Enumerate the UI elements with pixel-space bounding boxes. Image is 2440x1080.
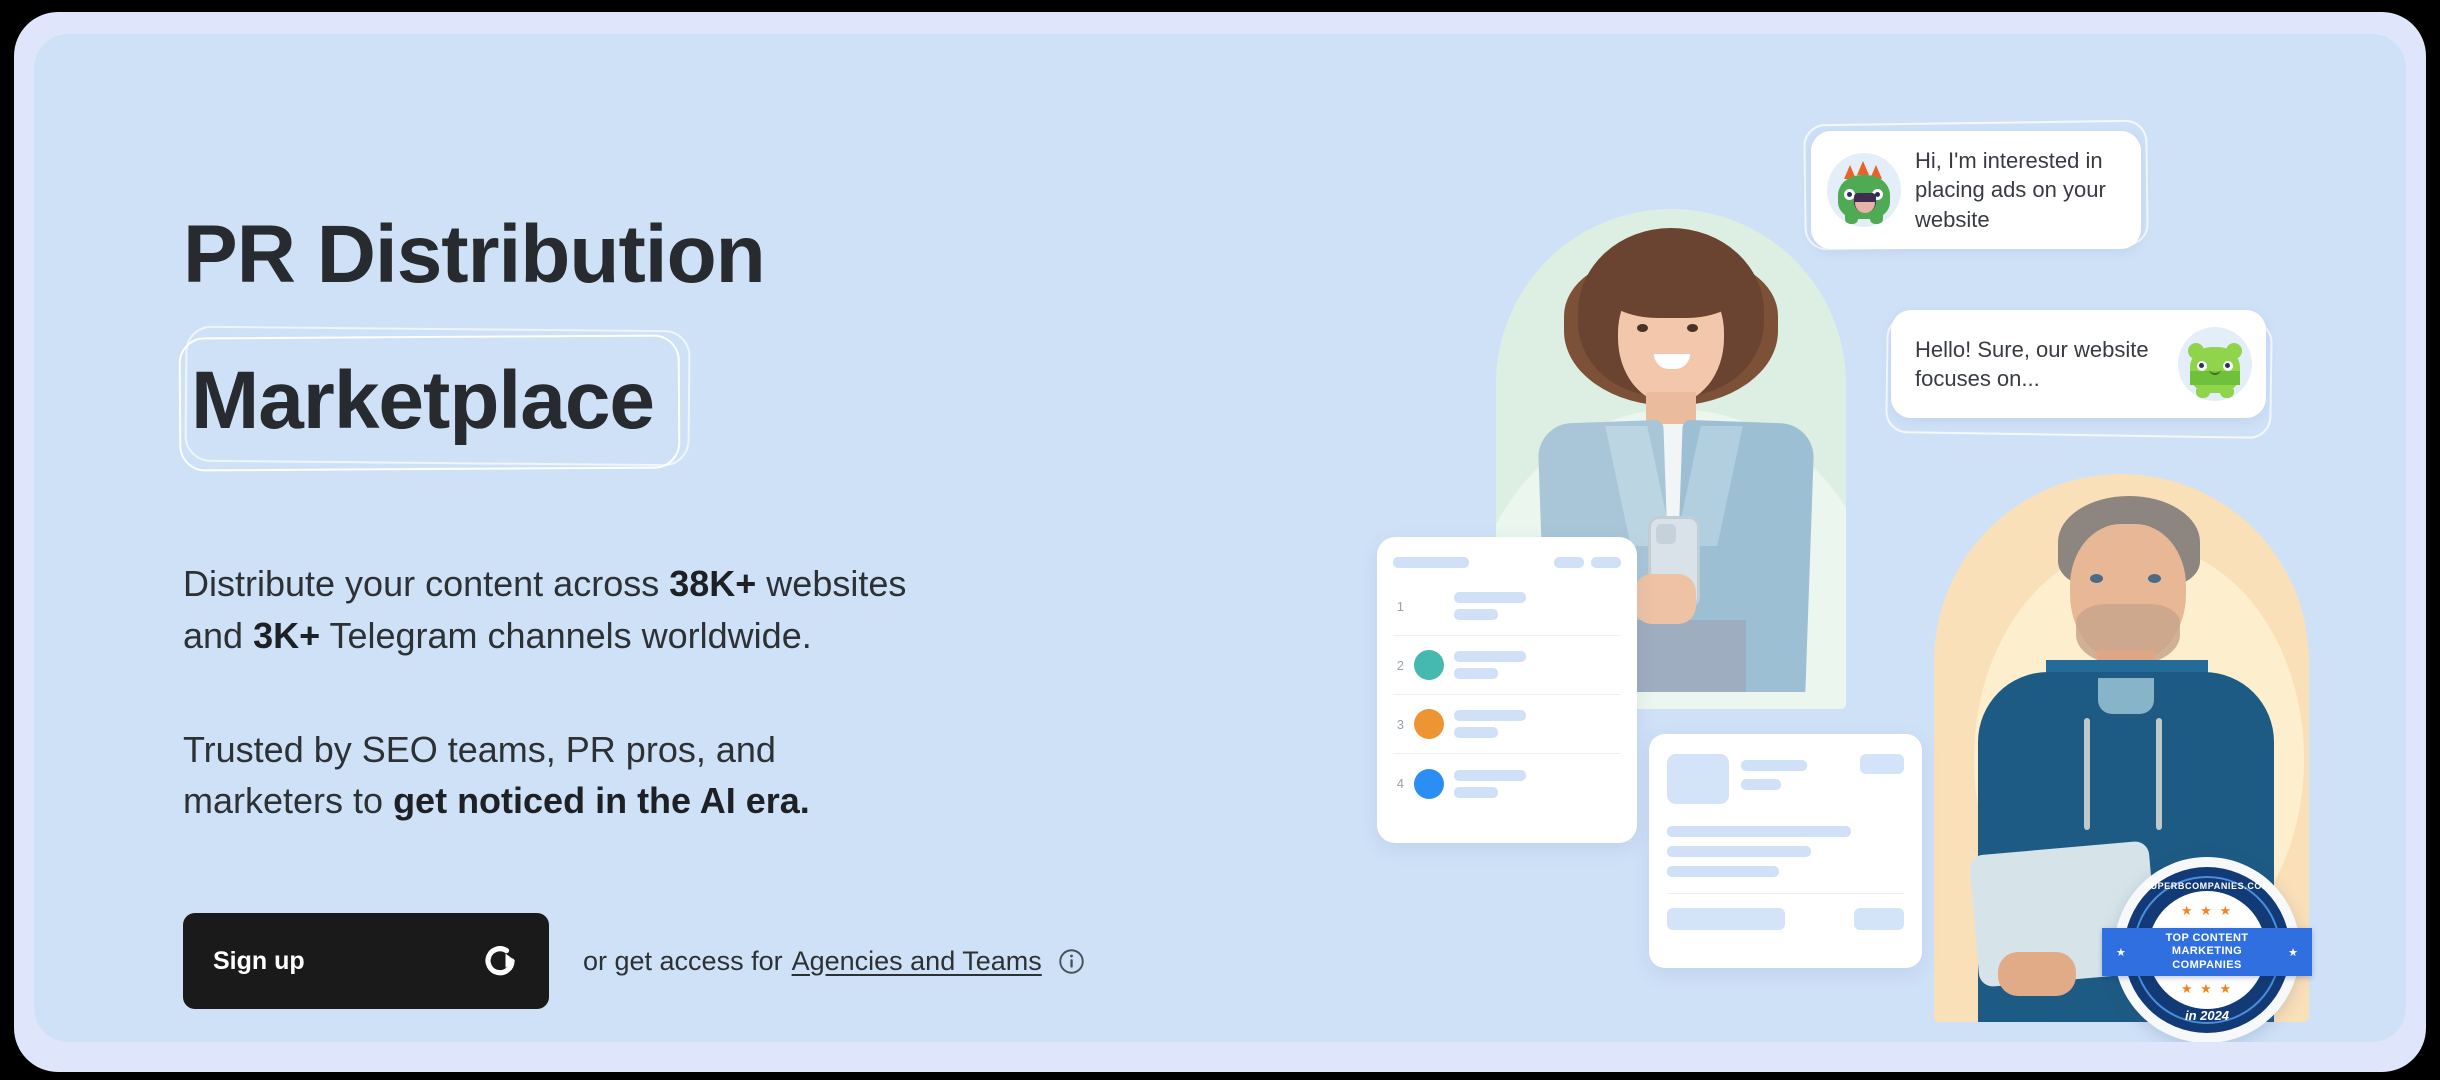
ribbon-star-right-icon: ★ [2288, 946, 2298, 959]
list-item-color-dot [1414, 709, 1444, 739]
ranked-list-card: 1 2 3 [1377, 537, 1637, 843]
list-item-line-1 [1454, 770, 1526, 781]
highlighted-headline: Marketplace [183, 334, 684, 472]
doc-body-line-3 [1667, 866, 1779, 877]
list-card-header [1393, 557, 1621, 568]
list-item[interactable]: 3 [1393, 695, 1621, 754]
sign-up-button-label: Sign up [213, 947, 305, 976]
award-badge-stars-bottom: ★ ★ ★ [2114, 981, 2300, 997]
doc-thumbnail-placeholder [1667, 754, 1729, 804]
chat-bubble-inbound[interactable]: Hi, I'm interested in placing ads on you… [1811, 131, 2141, 249]
award-title-line-2: MARKETING [2172, 945, 2242, 957]
header-title-placeholder [1393, 557, 1469, 568]
sign-up-button[interactable]: Sign up [183, 913, 549, 1009]
subheading-paragraph-1: Distribute your content across 38K+ webs… [183, 558, 943, 662]
list-item-rank: 4 [1393, 776, 1404, 791]
page-frame: PR Distribution Marketplace Distribute y… [14, 12, 2426, 1072]
list-item-line-2 [1454, 727, 1498, 738]
doc-divider [1667, 893, 1904, 894]
hero-copy-column: PR Distribution Marketplace Distribute y… [183, 214, 1233, 1009]
list-item-line-2 [1454, 787, 1498, 798]
doc-badge-placeholder [1860, 754, 1904, 774]
award-title-line-3: COMPANIES [2172, 959, 2241, 971]
list-item[interactable]: 2 [1393, 636, 1621, 695]
para2-emphasis: get noticed in the AI era. [393, 780, 810, 821]
list-item-rank: 2 [1393, 658, 1404, 673]
cta-secondary-text: or get access for Agencies and Teams [583, 946, 1085, 977]
doc-footer-secondary-placeholder [1854, 908, 1904, 930]
list-item-line-1 [1454, 592, 1526, 603]
doc-footer-primary-placeholder [1667, 908, 1785, 930]
header-chip-2-placeholder [1591, 557, 1621, 568]
list-item[interactable]: 1 [1393, 577, 1621, 636]
doc-title-placeholder [1741, 760, 1807, 771]
list-item-line-1 [1454, 651, 1526, 662]
list-item-line-1 [1454, 710, 1526, 721]
agencies-and-teams-link[interactable]: Agencies and Teams [792, 946, 1042, 977]
award-badge-stars-top: ★ ★ ★ [2114, 903, 2300, 919]
cta-aside-prefix: or get access for [583, 946, 783, 977]
green-dino-monster-avatar [1827, 153, 1901, 227]
subheading-paragraph-2: Trusted by SEO teams, PR pros, and marke… [183, 724, 943, 828]
list-item[interactable]: 4 [1393, 754, 1621, 813]
page-title-line-1: PR Distribution [183, 214, 1233, 296]
header-chip-1-placeholder [1554, 557, 1584, 568]
hero-illustration-collage: Hi, I'm interested in placing ads on you… [1324, 34, 2406, 1042]
list-item-line-2 [1454, 609, 1498, 620]
doc-body-line-2 [1667, 846, 1811, 857]
award-title-line-1: TOP CONTENT [2166, 932, 2249, 944]
chat-bubble-outbound[interactable]: Hello! Sure, our website focuses on... [1891, 310, 2266, 418]
list-item-color-dot [1414, 650, 1444, 680]
doc-body-line-1 [1667, 826, 1851, 837]
award-badge: SUPERBCOMPANIES.COM ★ ★ ★ ★ ★ ★ in 2024 … [2114, 857, 2300, 1042]
para1-text-1: Distribute your content across [183, 563, 669, 604]
hero-panel: PR Distribution Marketplace Distribute y… [34, 34, 2406, 1042]
collaborator-logo-mark-icon [485, 944, 519, 978]
list-item-color-dot [1414, 769, 1444, 799]
article-skeleton-card [1649, 734, 1922, 968]
list-item-rank: 1 [1393, 599, 1404, 614]
chat-bubble-outbound-text: Hello! Sure, our website focuses on... [1915, 335, 2164, 394]
cta-row: Sign up or get access for Agencies and T… [183, 913, 1233, 1009]
list-item-color-dot [1414, 591, 1444, 621]
para1-stat-websites: 38K+ [669, 563, 756, 604]
award-badge-site: SUPERBCOMPANIES.COM [2114, 881, 2300, 891]
chat-bubble-inbound-text: Hi, I'm interested in placing ads on you… [1915, 146, 2121, 234]
award-badge-year: in 2024 [2114, 1008, 2300, 1023]
page-title-line-2: Marketplace [183, 334, 684, 472]
para1-stat-telegram: 3K+ [253, 615, 320, 656]
info-circle-icon[interactable] [1058, 948, 1085, 975]
list-item-line-2 [1454, 668, 1498, 679]
para1-text-3: Telegram channels worldwide. [320, 615, 812, 656]
list-item-rank: 3 [1393, 717, 1404, 732]
award-badge-ribbon: ★ TOP CONTENT MARKETING COMPANIES ★ [2102, 928, 2312, 976]
ribbon-star-left-icon: ★ [2116, 946, 2126, 959]
lime-bear-monster-avatar [2178, 327, 2252, 401]
doc-subtitle-placeholder [1741, 779, 1781, 790]
